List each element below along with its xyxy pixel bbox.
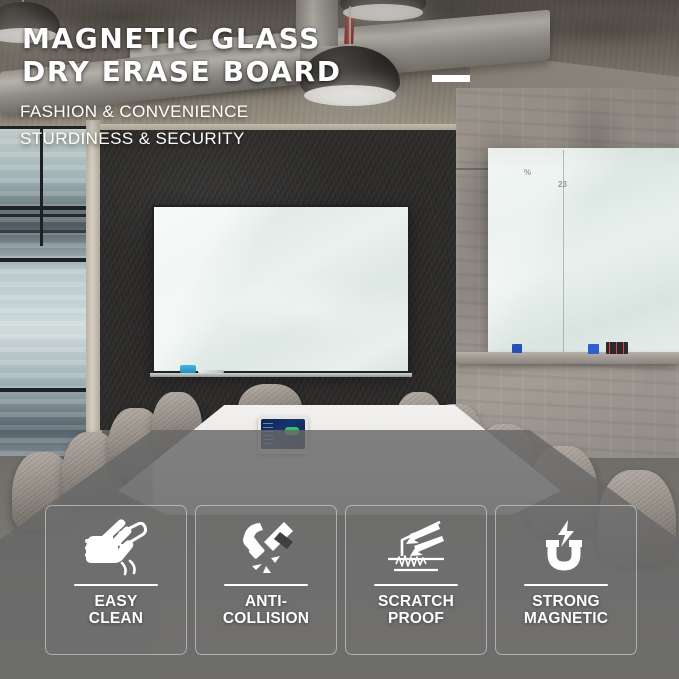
feature-label-strong-magnetic: STRONG MAGNETIC: [524, 593, 608, 628]
blue-eraser: [180, 365, 196, 373]
feature-card-easy-clean: EASY CLEAN: [45, 505, 187, 655]
whiteboard-mark: 23: [558, 180, 567, 189]
feature-label-scratch-proof: SCRATCH PROOF: [378, 593, 454, 628]
subheadline-line-1: FASHION & CONVENIENCE: [20, 98, 249, 125]
glass-whiteboard-main: [152, 205, 410, 373]
blue-magnet-accessory: [512, 344, 522, 353]
headline-line-1: MAGNETIC GLASS: [22, 22, 492, 55]
glass-partition-wall: [0, 126, 92, 456]
feature-label-line-2: COLLISION: [223, 610, 309, 627]
feature-card-scratch-proof: SCRATCH PROOF: [345, 505, 487, 655]
feature-label-line-1: EASY: [94, 593, 137, 610]
feature-label-line-1: ANTI-: [245, 593, 287, 610]
feature-label-easy-clean: EASY CLEAN: [89, 593, 143, 628]
card-divider: [74, 584, 158, 586]
dry-erase-marker: [198, 370, 224, 373]
feature-card-strong-magnetic: STRONG MAGNETIC: [495, 505, 637, 655]
feature-label-line-2: MAGNETIC: [524, 610, 608, 627]
headline-line-2: DRY ERASE BOARD: [22, 55, 492, 88]
whiteboard-pen-tray: [150, 373, 412, 377]
card-divider: [224, 584, 308, 586]
card-divider: [374, 584, 458, 586]
feature-label-line-1: STRONG: [532, 593, 600, 610]
hammer-impact-icon: [230, 518, 302, 580]
marker-holder: [606, 342, 628, 354]
card-divider: [524, 584, 608, 586]
horseshoe-magnet-icon: [530, 518, 602, 580]
window-mullion: [0, 206, 92, 210]
feature-card-list: EASY CLEAN: [45, 505, 637, 655]
feature-label-anti-collision: ANTI- COLLISION: [223, 593, 309, 628]
headline-block: MAGNETIC GLASS DRY ERASE BOARD: [22, 22, 492, 88]
blade-scratch-icon: [380, 518, 452, 580]
product-banner: % 23 MAGNETIC GLASS DRY ERASE BOARD: [0, 0, 679, 679]
atrium-railing: [0, 214, 88, 254]
concrete-ledge: [456, 352, 679, 364]
glass-whiteboard-secondary: [488, 148, 679, 356]
feature-label-line-2: PROOF: [388, 610, 444, 627]
window-mullion: [0, 258, 92, 262]
subheadline-block: FASHION & CONVENIENCE STURDINESS & SECUR…: [20, 98, 249, 152]
feature-card-anti-collision: ANTI- COLLISION: [195, 505, 337, 655]
feature-label-line-1: SCRATCH: [378, 593, 454, 610]
blue-magnet-accessory: [588, 344, 599, 354]
hand-eraser-icon: [80, 518, 152, 580]
feature-label-line-2: CLEAN: [89, 610, 143, 627]
window-mullion: [0, 388, 92, 392]
decorative-dash: [432, 75, 470, 82]
subheadline-line-2: STURDINESS & SECURITY: [20, 125, 249, 152]
